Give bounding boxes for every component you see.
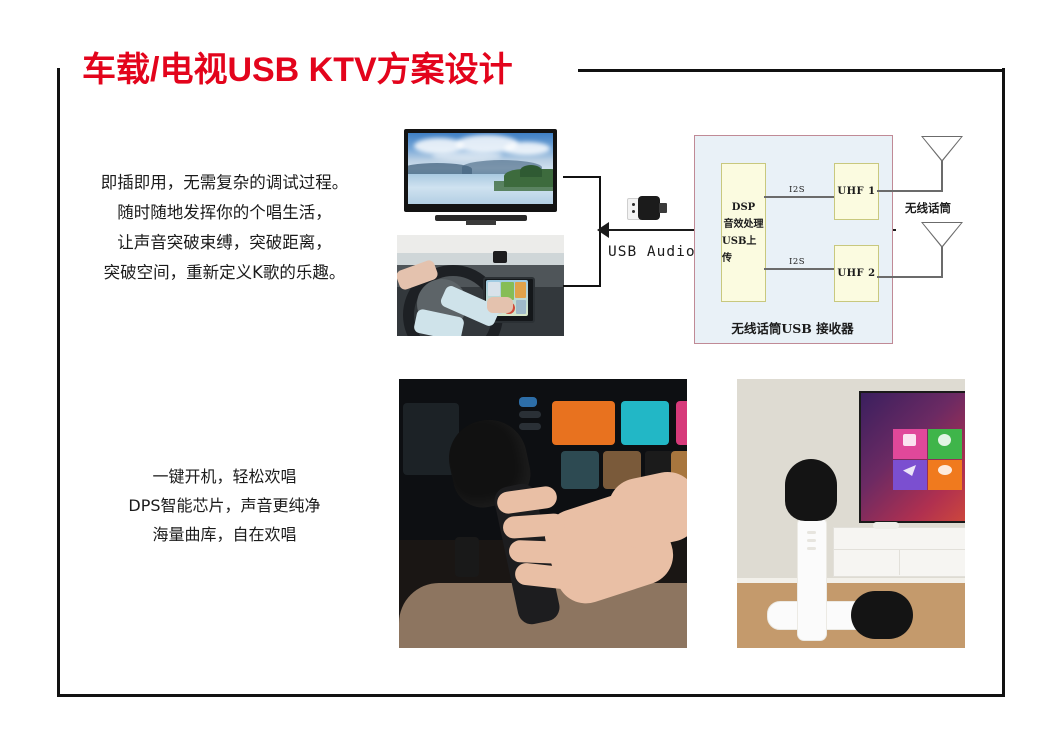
tv-bezel [404,129,557,212]
antenna-lead-1 [877,190,943,192]
uhf1-block: UHF 1 [834,163,879,220]
uhf2-block: UHF 2 [834,245,879,302]
tv-foot [466,220,496,225]
microphone-2-foam-head [851,591,913,639]
dash-mount [493,251,507,263]
intro-line-4: 突破空间，重新定义K歌的乐趣。 [62,258,387,288]
i2s-wire-2 [764,268,834,270]
frame-border-left [57,68,60,697]
car-interior-photo [397,235,564,336]
intro-line-3: 让声音突破束缚，突破距离， [62,228,387,258]
feature-paragraph: 一键开机，轻松欢唱 DPS智能芯片，声音更纯净 海量曲库，自在欢唱 [62,462,387,549]
antenna-label: 无线话筒 [905,200,951,216]
i2s-wire-1 [764,196,834,198]
microphone-1-body [797,517,827,641]
microphone-1-foam-head [785,459,837,521]
intro-paragraph: 即插即用，无需复杂的调试过程。 随时随地发挥你的个唱生活， 让声音突破束缚，突破… [62,168,387,288]
intro-line-1: 即插即用，无需复杂的调试过程。 [62,168,387,198]
usb-connector-icon [624,196,666,220]
dsp-line-2: 音效处理 [724,216,764,233]
dsp-block: DSP 音效处理 USB上传 [721,163,766,302]
remote-control [873,522,899,529]
dsp-line-3: USB上传 [722,233,765,267]
uhf2-label: UHF 2 [837,268,875,279]
page-title: 车载/电视USB KTV方案设计 [82,42,513,91]
dsp-line-1: DSP [732,199,755,216]
receiver-caption: 无线话筒USB 接收器 [694,318,891,337]
i2s-label-1: I2S [789,185,805,195]
car-connector-line [563,285,601,287]
frame-border-bottom [57,694,1005,697]
feature-line-1: 一键开机，轻松欢唱 [62,462,387,491]
slide-canvas: 车载/电视USB KTV方案设计 即插即用，无需复杂的调试过程。 随时随地发挥你… [0,0,1061,749]
uhf1-label: UHF 1 [837,186,875,197]
title-underline-rule [578,69,1005,72]
feature-line-2: DPS智能芯片，声音更纯净 [62,491,387,520]
frame-border-right [1002,68,1005,697]
usb-audio-label: USB Audio [608,244,696,260]
wall-tv [859,391,965,523]
tv-screen-image [408,133,553,204]
antenna-lead-2 [877,276,943,278]
usb-audio-arrow-head [597,222,609,238]
feature-line-3: 海量曲库，自在欢唱 [62,520,387,549]
i2s-label-2: I2S [789,257,805,267]
tv-connector-line [563,176,601,178]
mic-in-car-photo [399,379,687,648]
intro-line-2: 随时随地发挥你的个唱生活， [62,198,387,228]
tv-photo [397,126,564,227]
living-room-photo [737,379,965,648]
tv-app-tile-3 [893,460,927,490]
